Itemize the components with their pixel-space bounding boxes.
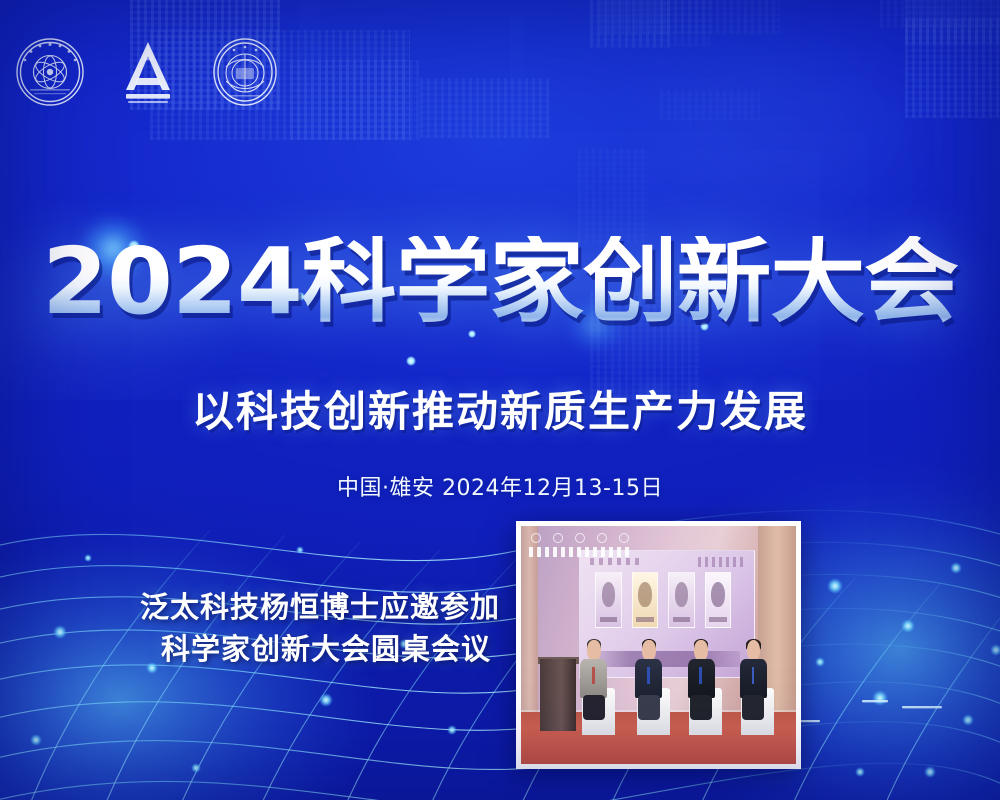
page-title: 2024科学家创新大会 xyxy=(0,236,1000,328)
roundtable-panel-photo xyxy=(521,526,796,764)
event-caption: 泛太科技杨恒博士应邀参加 科学家创新大会圆桌会议 xyxy=(120,586,520,670)
photo-speaker-card xyxy=(632,572,658,628)
cast-emblem-logo xyxy=(14,36,86,108)
page-subtitle: 以科技创新推动新质生产力发展 xyxy=(0,378,1000,439)
scientists-conference-triangle-logo xyxy=(110,34,186,110)
photo-screen-session-title xyxy=(594,651,740,667)
photo-speaker-card xyxy=(668,572,694,628)
photo-stage-banner xyxy=(529,533,639,557)
photo-panelist xyxy=(579,640,609,719)
event-location-date: 中国·雄安 2024年12月13-15日 xyxy=(0,470,1000,502)
photo-panelist xyxy=(738,640,768,719)
sponsor-logo-row xyxy=(14,34,280,110)
roundtable-panel-photo-frame xyxy=(516,521,801,769)
caption-line-1: 泛太科技杨恒博士应邀参加 xyxy=(120,586,520,628)
academy-round-logo xyxy=(210,37,280,107)
poster-canvas: 2024科学家创新大会 以科技创新推动新质生产力发展 中国·雄安 2024年12… xyxy=(0,0,1000,800)
photo-podium xyxy=(540,659,576,730)
photo-panelist-speaking xyxy=(686,640,716,719)
photo-screen-logo-text xyxy=(698,557,745,567)
photo-screen-icon-row xyxy=(590,558,642,564)
photo-speaker-card xyxy=(595,572,621,628)
caption-line-2: 科学家创新大会圆桌会议 xyxy=(120,628,520,670)
photo-speaker-card xyxy=(705,572,731,628)
spark-dot xyxy=(406,356,416,366)
main-title-block: 2024科学家创新大会 xyxy=(0,236,1000,328)
photo-panelist xyxy=(634,640,664,719)
